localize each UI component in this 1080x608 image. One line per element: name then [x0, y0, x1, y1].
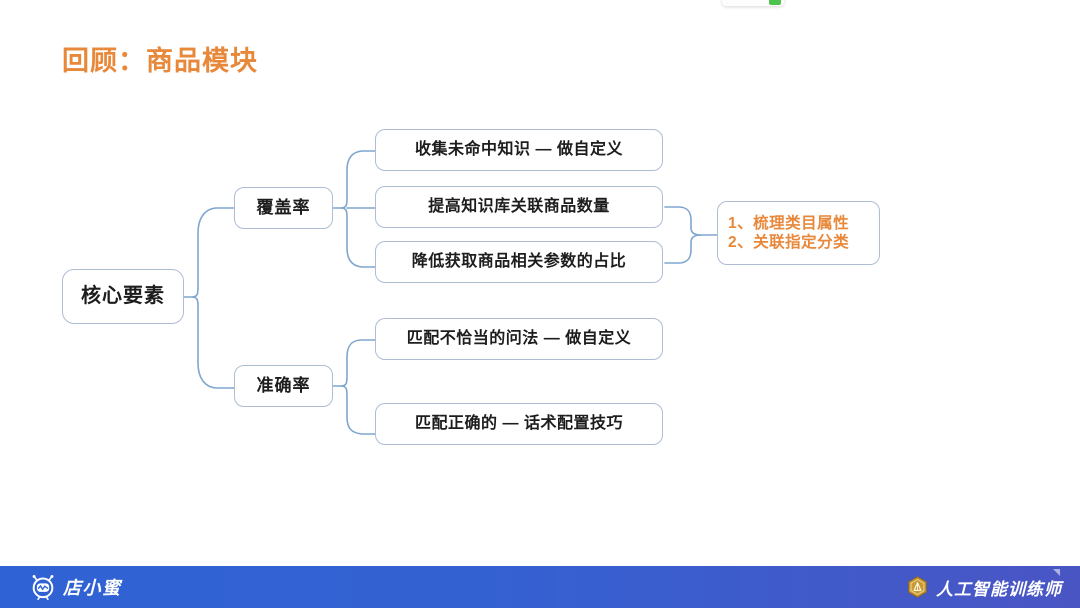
mindmap-leaf-label: 收集未命中知识 — 做自定义: [415, 140, 623, 160]
mindmap-leaf-node[interactable]: 收集未命中知识 — 做自定义: [375, 129, 663, 171]
mindmap-leaf-node[interactable]: 匹配不恰当的问法 — 做自定义: [375, 318, 663, 360]
brand-name: 店小蜜: [63, 574, 122, 600]
connector-coverage-to-leaves: [333, 150, 381, 280]
mindmap-branch-label: 准确率: [257, 375, 311, 396]
mindmap-root-node[interactable]: 核心要素: [62, 269, 184, 324]
top-floating-chip[interactable]: [722, 0, 784, 6]
callout-line-2: 2、关联指定分类: [728, 233, 849, 252]
corner-caret-icon: [1053, 569, 1060, 576]
presentation-slide: 回顾：商品模块 核心要素 覆盖率 准确: [0, 0, 1080, 608]
robot-logo-icon: [30, 574, 56, 600]
certification-badge-icon: [907, 576, 928, 598]
mindmap-leaf-node[interactable]: 提高知识库关联商品数量: [375, 186, 663, 228]
mindmap-branch-coverage[interactable]: 覆盖率: [234, 187, 333, 229]
mindmap-branch-accuracy[interactable]: 准确率: [234, 365, 333, 407]
mindmap-leaf-label: 降低获取商品相关参数的占比: [412, 252, 627, 272]
connector-root-to-branches: [184, 205, 240, 395]
green-status-indicator-icon: [769, 0, 781, 5]
mindmap-leaf-label: 匹配不恰当的问法 — 做自定义: [407, 329, 631, 349]
footer-brand: 店小蜜: [30, 566, 122, 608]
mindmap-root-label: 核心要素: [81, 284, 165, 309]
mindmap-leaf-label: 匹配正确的 — 话术配置技巧: [415, 414, 623, 434]
certification-name: 人工智能训练师: [936, 575, 1062, 600]
mindmap-leaf-node[interactable]: 降低获取商品相关参数的占比: [375, 241, 663, 283]
footer-bar: 店小蜜 人工智能训练师: [0, 566, 1080, 608]
mindmap-leaf-label: 提高知识库关联商品数量: [428, 197, 610, 217]
mindmap-leaf-node[interactable]: 匹配正确的 — 话术配置技巧: [375, 403, 663, 445]
page-title: 回顾：商品模块: [62, 39, 258, 78]
callout-line-1: 1、梳理类目属性: [728, 214, 849, 233]
connector-accuracy-to-leaves: [333, 339, 381, 435]
connector-leaves-to-callout: [665, 195, 719, 275]
mindmap-branch-label: 覆盖率: [257, 197, 311, 218]
mindmap-callout-node[interactable]: 1、梳理类目属性 2、关联指定分类: [717, 201, 880, 265]
footer-certification: 人工智能训练师: [907, 566, 1062, 608]
